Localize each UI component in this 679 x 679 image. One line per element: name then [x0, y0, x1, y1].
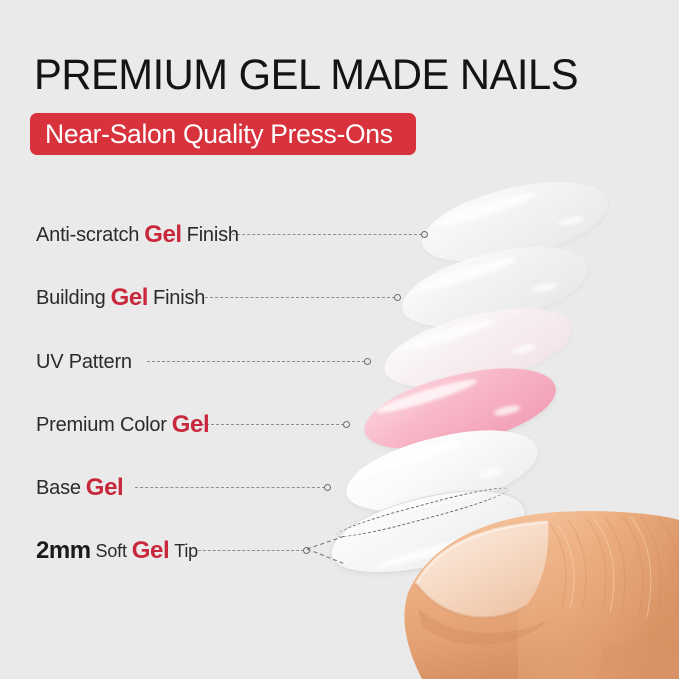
layer-label-base-gel: BaseGel	[36, 473, 123, 503]
layer-label-part-gel: Gel	[144, 221, 181, 249]
page-title: PREMIUM GEL MADE NAILS	[34, 50, 578, 100]
leader-endpoint-4	[343, 421, 350, 428]
layer-label-part-text: Anti-scratch	[36, 224, 139, 247]
fingertip-photo	[398, 498, 679, 679]
leader-endpoint-3	[364, 358, 371, 365]
leader-line-3	[147, 361, 365, 363]
layer-label-uv-pattern: UV Pattern	[36, 347, 132, 377]
layer-label-part-text: Tip	[174, 541, 198, 562]
subtitle-badge: Near-Salon Quality Press-Ons	[30, 113, 416, 155]
layer-label-part-text: Finish	[187, 224, 239, 247]
layer-label-part-gel: Gel	[86, 474, 123, 502]
layer-label-part-text: Base	[36, 477, 81, 500]
leader-tip-bracket	[305, 530, 375, 576]
fingertip-illustration	[398, 498, 679, 679]
layer-label-premium-color-gel: Premium ColorGel	[36, 410, 209, 440]
leader-line-6	[198, 550, 304, 552]
layer-label-part-text: Building	[36, 287, 106, 310]
leader-line-5	[135, 487, 325, 489]
layer-label-part-text: UV Pattern	[36, 351, 132, 374]
leader-line-2	[205, 297, 395, 299]
leader-endpoint-2	[394, 294, 401, 301]
layer-label-building-gel-finish: BuildingGelFinish	[36, 283, 205, 313]
layer-label-part-text: Soft	[96, 541, 127, 562]
leader-endpoint-1	[421, 231, 428, 238]
subtitle-badge-label: Near-Salon Quality Press-Ons	[45, 121, 393, 148]
layer-label-part-text: Premium Color	[36, 414, 167, 437]
leader-line-1	[232, 234, 422, 236]
layer-label-part-gel: Gel	[111, 284, 148, 312]
layer-label-part-strong: 2mm	[36, 537, 91, 565]
leader-line-4	[196, 424, 344, 426]
layer-label-part-gel: Gel	[172, 411, 209, 439]
layer-label-part-gel: Gel	[132, 537, 169, 565]
infographic-canvas: PREMIUM GEL MADE NAILS Near-Salon Qualit…	[0, 0, 679, 679]
layer-label-soft-gel-tip: 2mmSoftGelTip	[36, 536, 198, 566]
leader-endpoint-5	[324, 484, 331, 491]
layer-label-anti-scratch-gel-finish: Anti-scratchGelFinish	[36, 220, 239, 250]
layer-label-part-text: Finish	[153, 287, 205, 310]
